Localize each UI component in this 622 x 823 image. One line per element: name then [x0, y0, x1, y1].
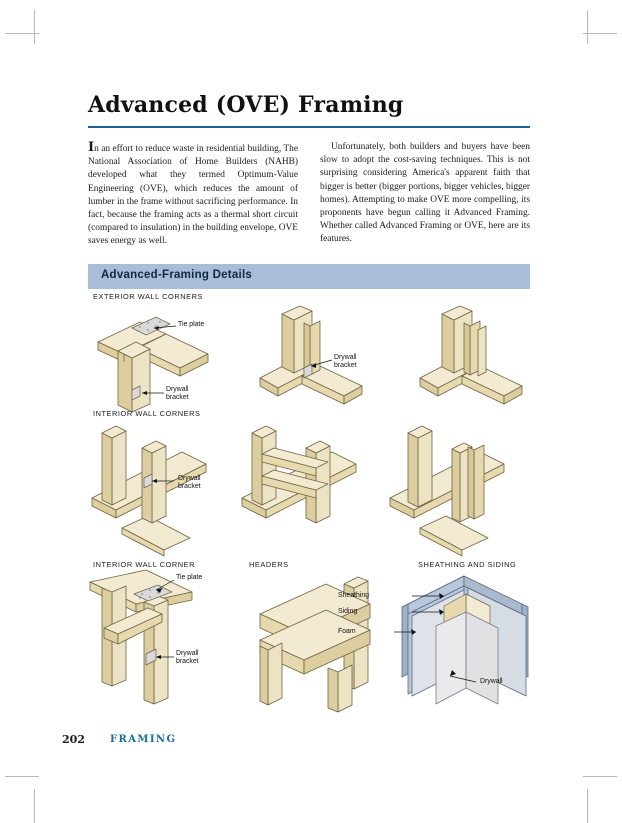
body-columns: In an effort to reduce waste in resident… — [88, 141, 530, 249]
callout-tie-plate-2: Tie plate — [176, 574, 202, 582]
figure-exterior-corner-3 — [418, 306, 548, 404]
callout-drywall-bracket-3: Drywall bracket — [178, 475, 201, 491]
callout-drywall-bracket-1: Drywall bracket — [166, 386, 189, 402]
figure-exterior-corner-2 — [258, 306, 388, 404]
section-header-bar: Advanced-Framing Details — [88, 264, 530, 289]
title-rule — [88, 126, 530, 128]
body-paragraph-left-text: n an effort to reduce waste in residenti… — [88, 144, 298, 246]
crop-mark-top-right-horizontal — [583, 33, 617, 34]
document-page: Advanced (OVE) Framing In an effort to r… — [0, 0, 622, 810]
figure-row-label-interior-wall-corners: INTERIOR WALL CORNERS — [93, 409, 201, 418]
figure-interior-corner-1 — [90, 420, 250, 542]
crop-mark-bottom-right-horizontal — [583, 776, 617, 777]
figure-area: EXTERIOR WALL CORNERS — [88, 292, 530, 717]
figure-row-label-exterior-wall-corners: EXTERIOR WALL CORNERS — [93, 292, 203, 301]
crop-mark-top-left-vertical — [34, 10, 35, 44]
crop-mark-bottom-right-vertical — [587, 789, 588, 823]
section-header-label: Advanced-Framing Details — [101, 269, 252, 281]
callout-drywall: Drywall — [480, 678, 503, 686]
figure-interior-corner-2 — [240, 420, 390, 542]
crop-mark-top-left-horizontal — [5, 33, 39, 34]
figure-sheathing-siding — [388, 570, 538, 710]
figure-row-label-interior-wall-corner: INTERIOR WALL CORNER — [93, 560, 195, 569]
crop-mark-top-right-vertical — [587, 10, 588, 44]
figure-interior-corner-tie-plate — [88, 570, 248, 705]
body-column-right: Unfortunately, both builders and buyers … — [320, 141, 530, 249]
crop-mark-bottom-left-vertical — [34, 789, 35, 823]
figure-row-label-headers: HEADERS — [249, 560, 289, 569]
figure-interior-corner-3 — [388, 420, 538, 542]
running-head: FRAMING — [110, 734, 176, 745]
callout-drywall-bracket-4: Drywall bracket — [176, 650, 199, 666]
callout-siding: Siding — [338, 608, 357, 616]
figure-header-assembly — [258, 570, 398, 705]
body-paragraph-left: In an effort to reduce waste in resident… — [88, 141, 298, 249]
callout-drywall-bracket-2: Drywall bracket — [334, 354, 357, 370]
callout-sheathing: Sheathing — [338, 592, 369, 600]
page-number: 202 — [62, 733, 85, 746]
figure-row-label-sheathing-siding: SHEATHING AND SIDING — [418, 560, 516, 569]
callout-tie-plate-1: Tie plate — [178, 321, 204, 329]
body-column-left: In an effort to reduce waste in resident… — [88, 141, 298, 249]
page-title: Advanced (OVE) Framing — [88, 92, 404, 118]
body-paragraph-right: Unfortunately, both builders and buyers … — [320, 141, 530, 247]
crop-mark-bottom-left-horizontal — [5, 776, 39, 777]
callout-foam: Foam — [338, 628, 356, 636]
